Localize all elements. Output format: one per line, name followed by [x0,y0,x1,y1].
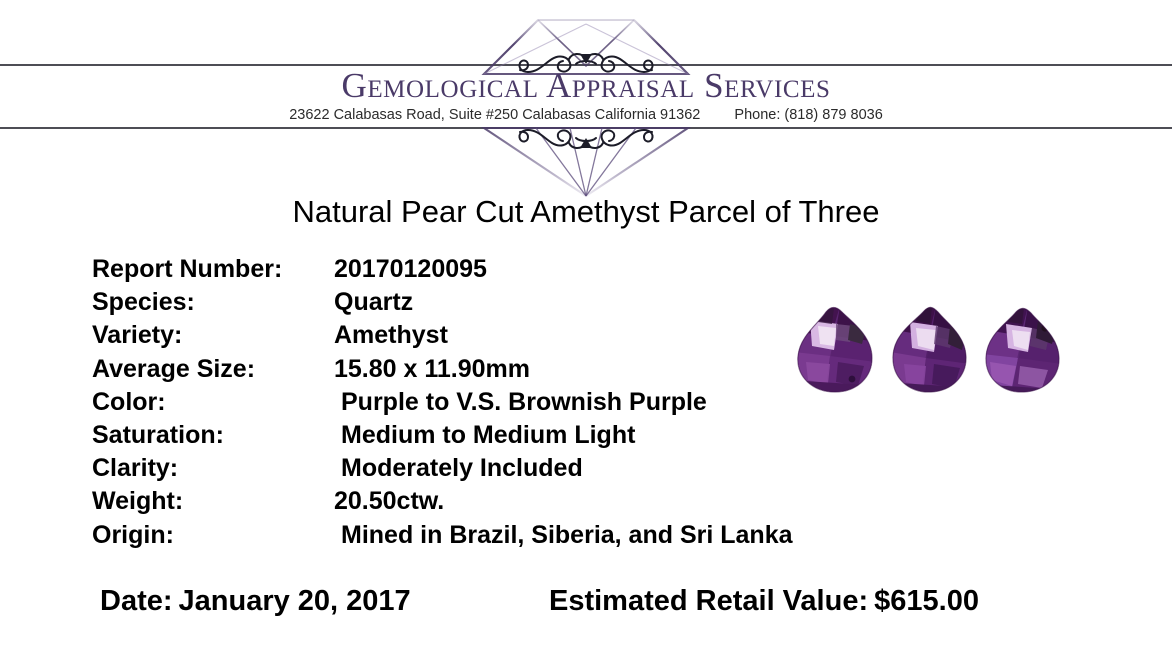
spec-row-report-number: Report Number: 20170120095 [92,253,892,286]
spec-value: 20170120095 [334,253,487,286]
spec-row-average-size: Average Size: 15.80 x 11.90mm [92,353,892,386]
spec-value: 20.50ctw. [334,485,444,518]
spec-label: Saturation: [92,419,224,452]
brand-contact-line: 23622 Calabasas Road, Suite #250 Calabas… [0,107,1172,124]
report-date: Date:January 20, 2017 [100,581,411,621]
spec-value: Mined in Brazil, Siberia, and Sri Lanka [341,519,793,552]
date-value: January 20, 2017 [179,585,411,617]
spec-label: Average Size: [92,353,255,386]
gemstone-photo [786,306,1070,398]
spec-row-color: Color: Purple to V.S. Brownish Purple [92,386,892,419]
retail-value-amount: $615.00 [874,585,979,617]
retail-value-label: Estimated Retail Value: [549,585,868,617]
document-footer: Date:January 20, 2017 Estimated Retail V… [0,581,1172,627]
spec-label: Color: [92,386,166,419]
spec-value: 15.80 x 11.90mm [334,353,530,386]
spec-label: Origin: [92,519,174,552]
spec-label: Weight: [92,485,183,518]
spec-value: Quartz [334,286,413,319]
spec-row-clarity: Clarity: Moderately Included [92,452,892,485]
spec-label: Species: [92,286,195,319]
spec-row-variety: Variety: Amethyst [92,319,892,352]
spec-value: Medium to Medium Light [341,419,635,452]
spec-label: Clarity: [92,452,178,485]
spec-label: Variety: [92,319,182,352]
letterhead: Gemological Appraisal Services 23622 Cal… [0,0,1172,200]
specification-table: Report Number: 20170120095 Species: Quar… [92,253,892,552]
estimated-retail-value: Estimated Retail Value:$615.00 [549,581,979,621]
brand-address: 23622 Calabasas Road, Suite #250 Calabas… [289,107,700,123]
brand-phone: Phone: (818) 879 8036 [734,107,882,123]
spec-row-species: Species: Quartz [92,286,892,319]
spec-row-weight: Weight: 20.50ctw. [92,485,892,518]
pear-cut-amethyst-stone [884,306,976,398]
pear-cut-amethyst-stone [790,306,882,398]
spec-value: Moderately Included [341,452,583,485]
appraisal-document-page: Gemological Appraisal Services 23622 Cal… [0,0,1172,652]
pear-cut-amethyst-stone [976,306,1068,398]
spec-row-origin: Origin: Mined in Brazil, Siberia, and Sr… [92,519,892,552]
brand-name: Gemological Appraisal Services [0,68,1172,104]
spec-value: Purple to V.S. Brownish Purple [341,386,707,419]
page-title: Natural Pear Cut Amethyst Parcel of Thre… [0,193,1172,231]
spec-row-saturation: Saturation: Medium to Medium Light [92,419,892,452]
spec-value: Amethyst [334,319,448,352]
spec-label: Report Number: [92,253,282,286]
date-label: Date: [100,585,173,617]
